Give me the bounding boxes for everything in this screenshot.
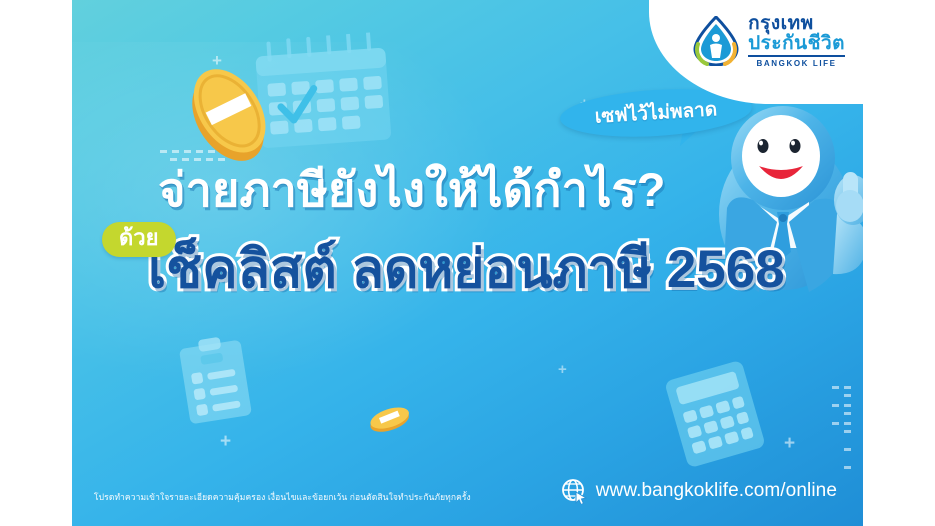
website-link[interactable]: www.bangkoklife.com/online [561,478,837,504]
logo-name-th-line2: ประกันชีวิต [748,34,845,57]
globe-cursor-icon [561,478,587,504]
promo-banner: + + + + + [72,0,863,526]
dashed-line-top-left [160,150,232,161]
clipboard-checklist-icon [174,331,257,427]
plus-sparkle-icon: + [212,52,222,69]
plus-sparkle-icon: + [784,434,795,453]
headline-block: จ่ายภาษียังไงให้ได้กำไร? ด้วย เช็คลิสต์ … [72,165,863,300]
gold-coin-small-icon [367,404,413,434]
headline-line-2: เช็คลิสต์ ลดหย่อนภาษี 2568 [148,242,785,298]
plus-sparkle-icon: + [558,362,567,377]
calendar-check-icon [248,31,395,152]
headline-line-1: จ่ายภาษียังไงให้ได้กำไร? [158,165,863,214]
logo-name-th-line1: กรุงเทพ [748,14,845,33]
plus-sparkle-icon: + [220,432,231,451]
website-url: www.bangkoklife.com/online [596,480,837,502]
badge-duay: ด้วย [102,222,176,256]
brand-logo: กรุงเทพ ประกันชีวิต BANGKOK LIFE [693,14,845,68]
gold-coin-large-icon [168,60,288,164]
logo-name-en: BANGKOK LIFE [748,60,845,68]
bangkok-life-droplet-logo-icon [693,16,739,66]
disclaimer-text: โปรดทำความเข้าใจรายละเอียดความคุ้มครอง เ… [94,490,471,504]
banner-page: + + + + + [0,0,935,526]
calculator-icon [660,356,769,472]
dashed-line-bottom-right [832,386,863,397]
